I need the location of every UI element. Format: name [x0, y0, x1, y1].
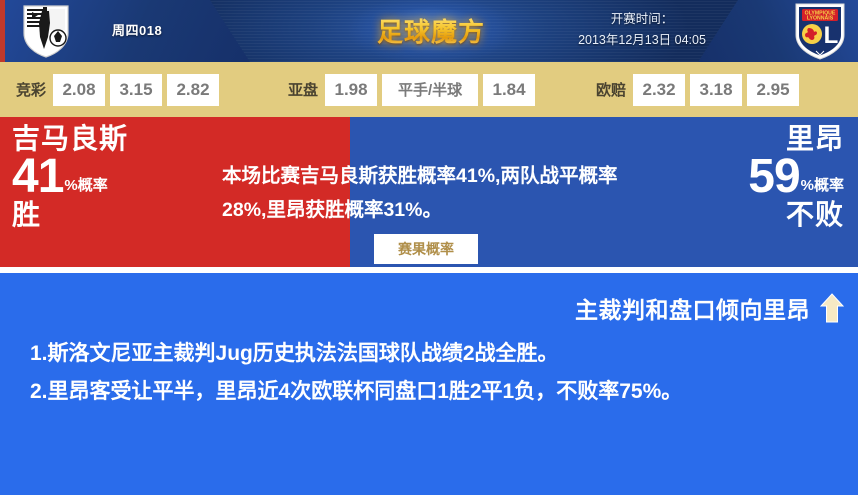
odds-cell-draw[interactable]: 3.18	[690, 74, 742, 106]
insight-list: 1.斯洛文尼亚主裁判Jug历史执法法国球队战绩2战全胜。 2.里昂客受让平半，里…	[30, 335, 828, 411]
odds-group-label: 亚盘	[288, 79, 318, 100]
home-team-name: 吉马良斯	[12, 125, 212, 153]
olympique-lyonnais-crest-icon: OLYMPIQUE LYONNAIS L	[790, 1, 850, 61]
list-item: 2.里昂客受让平半，里昂近4次欧联杯同盘口1胜2平1负，不败率75%。	[30, 373, 828, 411]
kickoff-label: 开赛时间：	[522, 9, 762, 30]
odds-group-euro: 欧赔 2.32 3.18 2.95	[596, 74, 804, 106]
home-probability-block: 吉马良斯 41 %概率 胜	[12, 125, 212, 229]
away-team-name: 里昂	[614, 125, 844, 153]
odds-cell-away[interactable]: 2.82	[167, 74, 219, 106]
svg-text:LYONNAIS: LYONNAIS	[807, 16, 834, 22]
odds-group-jingcai: 竞彩 2.08 3.15 2.82	[16, 74, 224, 106]
away-probability-value: 59	[748, 155, 799, 199]
header-bar: 周四018 足球魔方 开赛时间： 2013年12月13日 04:05 OLYMP…	[0, 0, 858, 62]
home-probability-unit: %概率	[64, 178, 107, 199]
tab-result-probability[interactable]: 赛果概率	[374, 234, 478, 264]
odds-bar: 竞彩 2.08 3.15 2.82 亚盘 1.98 平手/半球 1.84 欧赔 …	[0, 62, 858, 117]
insight-headline: 主裁判和盘口倾向里昂	[575, 291, 810, 325]
odds-cell-handicap[interactable]: 平手/半球	[382, 74, 478, 106]
insight-section: 主裁判和盘口倾向里昂 1.斯洛文尼亚主裁判Jug历史执法法国球队战绩2战全胜。 …	[0, 273, 858, 495]
odds-cell-home[interactable]: 2.08	[53, 74, 105, 106]
away-probability-block: 里昂 59 %概率 不败	[614, 125, 844, 229]
brand-logo: 足球魔方	[365, 8, 497, 52]
list-item: 1.斯洛文尼亚主裁判Jug历史执法法国球队战绩2战全胜。	[30, 335, 828, 373]
vitoria-guimaraes-crest-icon	[18, 3, 74, 59]
odds-cell-away[interactable]: 1.84	[483, 74, 535, 106]
odds-cell-draw[interactable]: 3.15	[110, 74, 162, 106]
odds-group-label: 竞彩	[16, 79, 46, 100]
probability-band: 吉马良斯 41 %概率 胜 本场比赛吉马良斯获胜概率41%,两队战平概率28%,…	[0, 117, 858, 267]
away-probability-result: 不败	[614, 201, 844, 229]
kickoff-value: 2013年12月13日 04:05	[522, 30, 762, 51]
odds-cell-away[interactable]: 2.95	[747, 74, 799, 106]
odds-group-asian: 亚盘 1.98 平手/半球 1.84	[288, 74, 540, 106]
match-number: 周四018	[112, 20, 162, 39]
kickoff-time: 开赛时间： 2013年12月13日 04:05	[522, 9, 762, 51]
odds-cell-home[interactable]: 1.98	[325, 74, 377, 106]
odds-group-label: 欧赔	[596, 79, 626, 100]
home-probability-result: 胜	[12, 201, 212, 229]
home-probability-value: 41	[12, 155, 63, 199]
brand-logo-text: 足球魔方	[377, 12, 485, 49]
away-probability-unit: %概率	[801, 178, 844, 199]
svg-text:L: L	[824, 22, 839, 49]
probability-summary: 本场比赛吉马良斯获胜概率41%,两队战平概率28%,里昂获胜概率31%。	[222, 159, 642, 227]
header-red-edge	[0, 0, 5, 62]
arrow-up-icon	[820, 293, 844, 323]
odds-cell-home[interactable]: 2.32	[633, 74, 685, 106]
match-preview-card: 周四018 足球魔方 开赛时间： 2013年12月13日 04:05 OLYMP…	[0, 0, 858, 498]
insight-headline-row: 主裁判和盘口倾向里昂	[575, 291, 844, 325]
